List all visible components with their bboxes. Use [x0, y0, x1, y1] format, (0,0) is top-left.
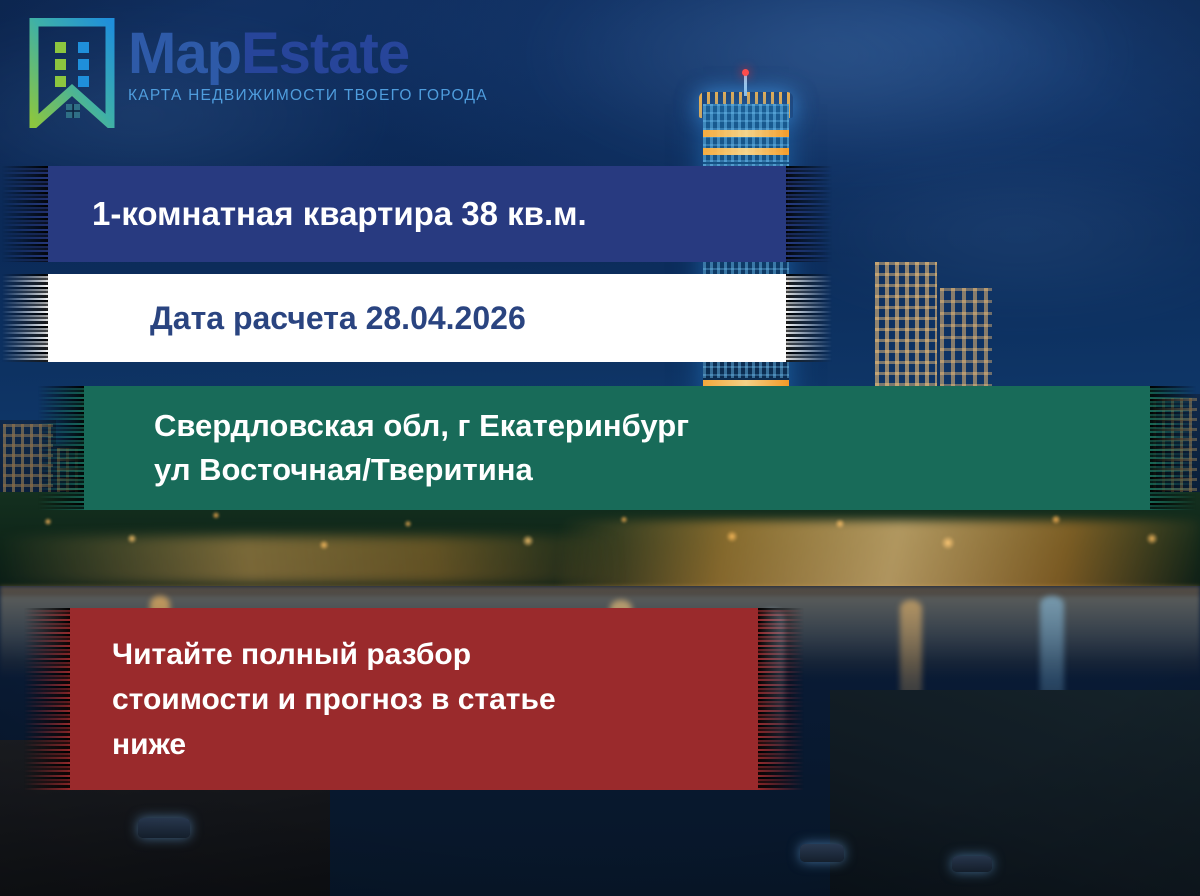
banner-address: Свердловская обл, г Екатеринбург ул Вост…	[82, 386, 1152, 510]
brand-logo[interactable]: MapEstate КАРТА НЕДВИЖИМОСТИ ТВОЕГО ГОРО…	[28, 18, 488, 128]
brand-wordmark: MapEstate КАРТА НЕДВИЖИМОСТИ ТВОЕГО ГОРО…	[128, 18, 488, 105]
brand-tagline: КАРТА НЕДВИЖИМОСТИ ТВОЕГО ГОРОДА	[128, 87, 488, 105]
banner-calculation-date: Дата расчета 28.04.2026	[46, 274, 788, 362]
promo-card: MapEstate КАРТА НЕДВИЖИМОСТИ ТВОЕГО ГОРО…	[0, 0, 1200, 896]
brand-name-estate: Estate	[241, 21, 409, 86]
banner-call-to-action[interactable]: Читайте полный разбор стоимости и прогно…	[68, 608, 760, 790]
cta-text: Читайте полный разбор стоимости и прогно…	[68, 632, 556, 767]
brand-name-map: Map	[128, 21, 241, 86]
calculation-date-text: Дата расчета 28.04.2026	[46, 300, 526, 337]
property-title-text: 1-комнатная квартира 38 кв.м.	[46, 195, 587, 233]
address-text: Свердловская обл, г Екатеринбург ул Вост…	[82, 404, 689, 492]
banner-property-title: 1-комнатная квартира 38 кв.м.	[46, 166, 788, 262]
bookmark-building-icon	[28, 18, 116, 128]
